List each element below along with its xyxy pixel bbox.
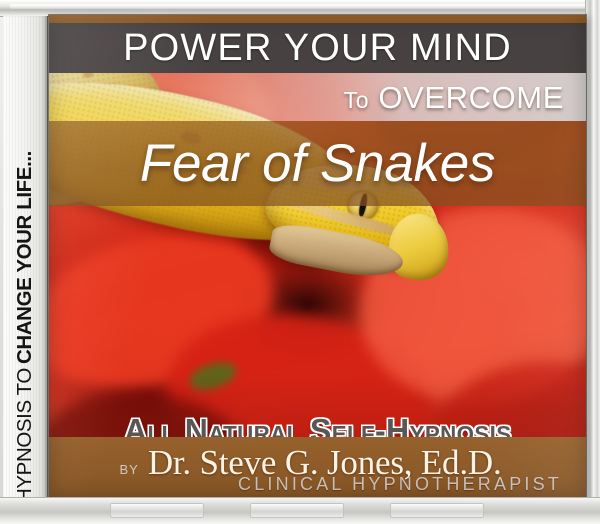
author-band: by Dr. Steve G. Jones, Ed.D. CLINICAL HY…	[49, 437, 586, 500]
title-subtitle: To OVERCOME	[344, 82, 564, 113]
case-spine: HYPNOSIS TO CHANGE YOUR LIFE...	[3, 16, 48, 504]
title-topic: Fear of Snakes	[140, 137, 495, 190]
title-band: POWER YOUR MIND	[49, 23, 586, 73]
topic-band: Fear of Snakes	[49, 121, 586, 206]
case-hinge	[250, 503, 344, 518]
case-bottom-edge	[0, 497, 600, 524]
cover-artwork: POWER YOUR MIND To OVERCOME Fear of Snak…	[49, 15, 586, 500]
spine-text: HYPNOSIS TO CHANGE YOUR LIFE...	[13, 17, 37, 503]
author-role: CLINICAL HYPNOTHERAPIST	[238, 474, 562, 495]
author-by-label: by	[119, 458, 138, 480]
cd-jewel-case: HYPNOSIS TO CHANGE YOUR LIFE...	[0, 0, 600, 524]
top-brown-strip	[49, 15, 586, 23]
case-hinge	[390, 503, 484, 518]
subtitle-band: To OVERCOME	[49, 73, 586, 121]
spine-text-bold: CHANGE YOUR LIFE...	[13, 151, 37, 364]
spine-text-light: HYPNOSIS TO	[13, 368, 37, 503]
title-subtitle-small: To	[344, 87, 370, 113]
title-subtitle-large: OVERCOME	[369, 80, 564, 115]
case-hinge	[110, 503, 204, 518]
case-right-edge	[585, 0, 600, 524]
title-main: POWER YOUR MIND	[123, 29, 512, 67]
